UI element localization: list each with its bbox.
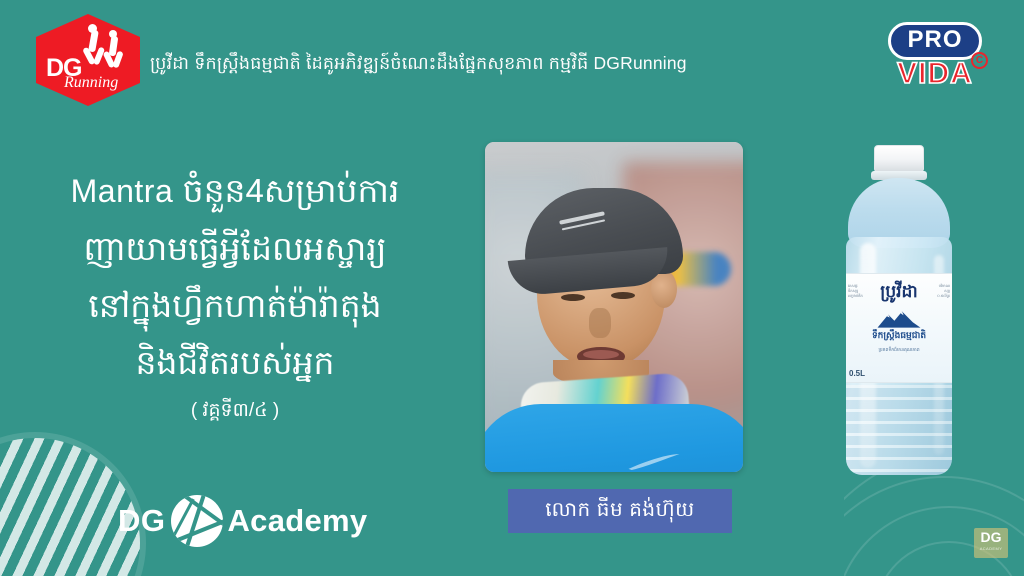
nike-swoosh-icon bbox=[627, 454, 681, 471]
title-khmer-part: ចំនួន4សម្រាប់ការ bbox=[183, 172, 400, 209]
corner-watermark-text: DG bbox=[974, 528, 1008, 546]
title-line-2: ញាយាមធ្វើអ្វីដែលអស្ចារ្យ bbox=[0, 220, 470, 277]
speaker-name-text: លោក ធីម គង់ហ៊ុយ bbox=[545, 496, 694, 526]
photo-mouth-inner bbox=[583, 350, 619, 359]
bottle-volume: 0.5L bbox=[849, 369, 865, 378]
title-line-1: Mantra ចំនួន4សម្រាប់ការ bbox=[0, 162, 470, 220]
mountain-icon bbox=[876, 310, 922, 328]
title-line-4: និងជីវិតរបស់អ្នក bbox=[0, 334, 470, 391]
title-block: Mantra ចំនួន4សម្រាប់ការ ញាយាមធ្វើអ្វីដែល… bbox=[0, 162, 470, 429]
title-subtitle: ( វគ្គទី៣/៤ ) bbox=[0, 393, 470, 429]
photo-eye-right bbox=[611, 292, 635, 299]
bottle-cap bbox=[874, 145, 924, 172]
bottle-label: ភេសជ្ជៈ ទឹកសុទ្ធ សម្រាប់ផឹក បរិមាណ សុទ្ធ… bbox=[846, 273, 952, 383]
corner-watermark: DG ACADEMY bbox=[974, 528, 1008, 558]
speaker-name-banner: លោក ធីម គង់ហ៊ុយ bbox=[508, 489, 732, 533]
photo-shirt bbox=[485, 404, 743, 472]
dg-academy-dg-text: DG bbox=[118, 503, 166, 539]
title-line-3: នៅក្នុងហ្វឹកហាត់ម៉ារ៉ាតុង bbox=[0, 277, 470, 334]
corner-watermark-sub: ACADEMY bbox=[974, 546, 1008, 551]
decorative-arcs bbox=[844, 466, 1024, 576]
dg-academy-word-text: Academy bbox=[228, 503, 368, 539]
photo-eye-left bbox=[561, 294, 585, 301]
header-tagline: ប្រូវីដា ទឹកស្រ្តឹងធម្មជាតិ ដៃគូអភិវឌ្ឍន… bbox=[150, 52, 870, 75]
dg-running-logo-word: Running bbox=[64, 74, 118, 92]
dg-running-logo: DG Running bbox=[36, 14, 140, 106]
copyright-icon: C bbox=[971, 52, 988, 69]
title-latin-word: Mantra bbox=[71, 173, 183, 209]
bottle-brand-name: ប្រូវីដា bbox=[846, 282, 952, 302]
header-bar: DG Running ប្រូវីដា ទឹកស្រ្តឹងធម្មជាតិ ដ… bbox=[0, 0, 1024, 112]
bottle-subtitle: ទឹកស្រ្តឹងធម្មជាតិ bbox=[846, 330, 952, 341]
bottle-fine-print: ប្រភពទឹកដ៏មានគុណភាព bbox=[846, 346, 952, 353]
photo-nose bbox=[589, 308, 611, 338]
provida-pro-text: PRO bbox=[888, 22, 981, 60]
provida-water-bottle: ភេសជ្ជៈ ទឹកសុទ្ធ សម្រាប់ផឹក បរិមាណ សុទ្ធ… bbox=[838, 145, 960, 480]
globe-ball-icon bbox=[171, 495, 223, 547]
dg-academy-logo: DG Academy bbox=[118, 495, 367, 547]
provida-sponsor-logo: PRO VIDA C bbox=[868, 22, 1002, 94]
speaker-portrait-photo bbox=[485, 142, 743, 472]
